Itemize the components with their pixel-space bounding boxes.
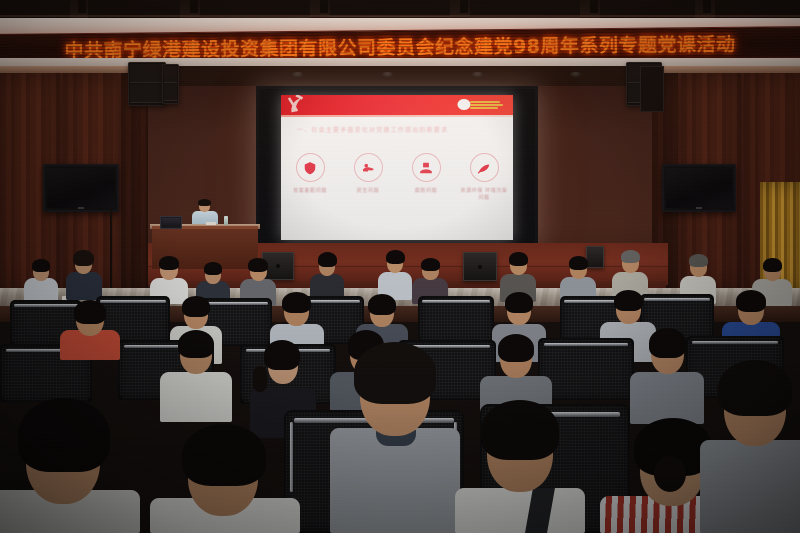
- person-hair: [736, 290, 766, 312]
- slide-icon-row: 贫富差距问题 民生问题 腐败问题: [281, 153, 513, 202]
- chair-backrest: [538, 338, 634, 400]
- ceiling-spotlight: [570, 72, 581, 77]
- tv-screen: [666, 168, 732, 208]
- conference-hall-photo: 中共南宁绿港建设投资集团有限公司委员会纪念建党98周年系列专题党课活动: [0, 0, 800, 533]
- wall-mounted-tv-left: [43, 164, 119, 212]
- floor-monitor-right: [463, 252, 497, 281]
- audience-member: [24, 258, 58, 304]
- person-torso: [160, 372, 232, 422]
- audience-member: [160, 330, 232, 422]
- monitor-port: [478, 265, 482, 269]
- slide-header-band: [281, 95, 513, 115]
- line-array-speaker-left-wing: [162, 64, 179, 104]
- speaker-cell: [164, 84, 177, 101]
- person-hair: [569, 256, 588, 270]
- tv-cable: [110, 208, 112, 288]
- ceiling-slot: [460, 0, 468, 13]
- speaker-cell: [164, 66, 177, 83]
- monitor-port: [276, 264, 280, 268]
- wall-speaker-right: [640, 66, 664, 112]
- foreground-audience-member: [700, 360, 800, 533]
- person-hair: [498, 334, 534, 362]
- person-hair: [368, 294, 396, 315]
- person-hair: [32, 259, 50, 272]
- ceiling-slot: [78, 0, 86, 13]
- person-torso: [630, 372, 704, 424]
- ceiling-panel: [600, 0, 695, 20]
- ceiling-spotlight: [292, 72, 303, 77]
- person-hair: [481, 400, 559, 460]
- wall-cornice: [650, 66, 800, 73]
- hair-bun: [654, 456, 686, 492]
- person-hair: [18, 398, 110, 472]
- slide-icon-label: 贫富差距问题: [293, 188, 327, 195]
- person-hair: [73, 250, 94, 266]
- person-hair: [264, 340, 300, 370]
- person-hair: [318, 252, 337, 267]
- shield-icon: [296, 153, 325, 182]
- audience-member: [60, 300, 120, 360]
- person-torso: [700, 440, 800, 533]
- ceiling-slot: [320, 0, 328, 13]
- chair-rail: [692, 341, 778, 344]
- person-hair: [649, 328, 686, 358]
- presentation-slide: 一、社会主要矛盾变化对党建工作提出的新要求 贫富差距问题 民生问题: [281, 95, 513, 240]
- person-hair: [689, 254, 708, 267]
- person-hair: [718, 360, 792, 416]
- slide-title: 一、社会主要矛盾变化对党建工作提出的新要求: [297, 125, 499, 134]
- person-hair: [505, 292, 533, 313]
- tv-brand-logo: [696, 207, 702, 209]
- wood-wall-panel: [120, 74, 148, 292]
- ponytail: [253, 366, 267, 392]
- wall-mounted-tv-right: [662, 164, 736, 212]
- audience-member: [66, 250, 102, 300]
- ceiling-spotlight: [382, 72, 393, 77]
- ceiling-slot: [590, 0, 598, 13]
- chair-rail: [422, 300, 490, 303]
- person-hair: [74, 300, 106, 324]
- slide-header-underline: [281, 115, 513, 117]
- chair-mesh: [540, 340, 632, 398]
- line-array-speaker-left: [128, 62, 166, 106]
- golden-torch-icon: [457, 98, 505, 111]
- hand-heart-icon: [354, 153, 383, 182]
- person-hair: [282, 292, 311, 313]
- person-hair: [621, 250, 640, 263]
- ceiling-slot: [190, 0, 198, 13]
- tv-screen: [47, 168, 115, 208]
- audience-member: [378, 250, 412, 300]
- person-hair: [614, 290, 643, 311]
- person-torso: [455, 488, 585, 533]
- soffit-edge: [0, 15, 800, 17]
- conference-chair[interactable]: [538, 338, 634, 400]
- slide-icon-item: 民生问题: [343, 153, 393, 195]
- slide-icon-item: 腐败问题: [401, 153, 451, 195]
- person-hair: [354, 342, 436, 404]
- projection-screen: 一、社会主要矛盾变化对党建工作提出的新要求 贫富差距问题 民生问题: [256, 86, 538, 249]
- foreground-audience-member: [455, 400, 585, 533]
- person-hair: [509, 252, 528, 266]
- person-hair: [182, 296, 210, 317]
- slide-icon-item: 贫富差距问题: [285, 153, 335, 195]
- person-hair: [386, 250, 405, 264]
- papers: [206, 222, 216, 225]
- ceiling-spotlight: [472, 72, 483, 77]
- foreground-audience-member: [330, 342, 460, 533]
- chair-rail: [544, 343, 628, 346]
- foreground-audience-member: [0, 398, 140, 533]
- speaker-cell: [130, 64, 164, 83]
- person-hair: [421, 258, 440, 271]
- water-bottle: [224, 216, 228, 225]
- slide-icon-label: 腐败问题: [415, 188, 437, 195]
- slide-icon-label: 资源环保 环境污染问题: [459, 188, 509, 202]
- ceiling-slot: [703, 0, 711, 13]
- person-hair: [159, 256, 179, 270]
- balance-icon: [412, 153, 441, 182]
- slide-icon-label: 民生问题: [357, 188, 379, 195]
- speaker-cell: [130, 84, 164, 103]
- presenter-hair: [198, 199, 211, 206]
- laptop-screen: [162, 218, 180, 227]
- slide-icon-item: 资源环保 环境污染问题: [459, 153, 509, 202]
- person-hair: [204, 262, 222, 275]
- tv-brand-logo: [78, 207, 84, 209]
- laptop: [160, 216, 182, 229]
- person-hair: [248, 258, 268, 272]
- foreground-audience-member: [150, 424, 300, 533]
- audience-member: [630, 328, 704, 424]
- person-hair: [182, 424, 266, 486]
- person-hair: [178, 330, 214, 358]
- person-hair: [763, 258, 782, 272]
- leaf-hand-icon: [470, 153, 499, 182]
